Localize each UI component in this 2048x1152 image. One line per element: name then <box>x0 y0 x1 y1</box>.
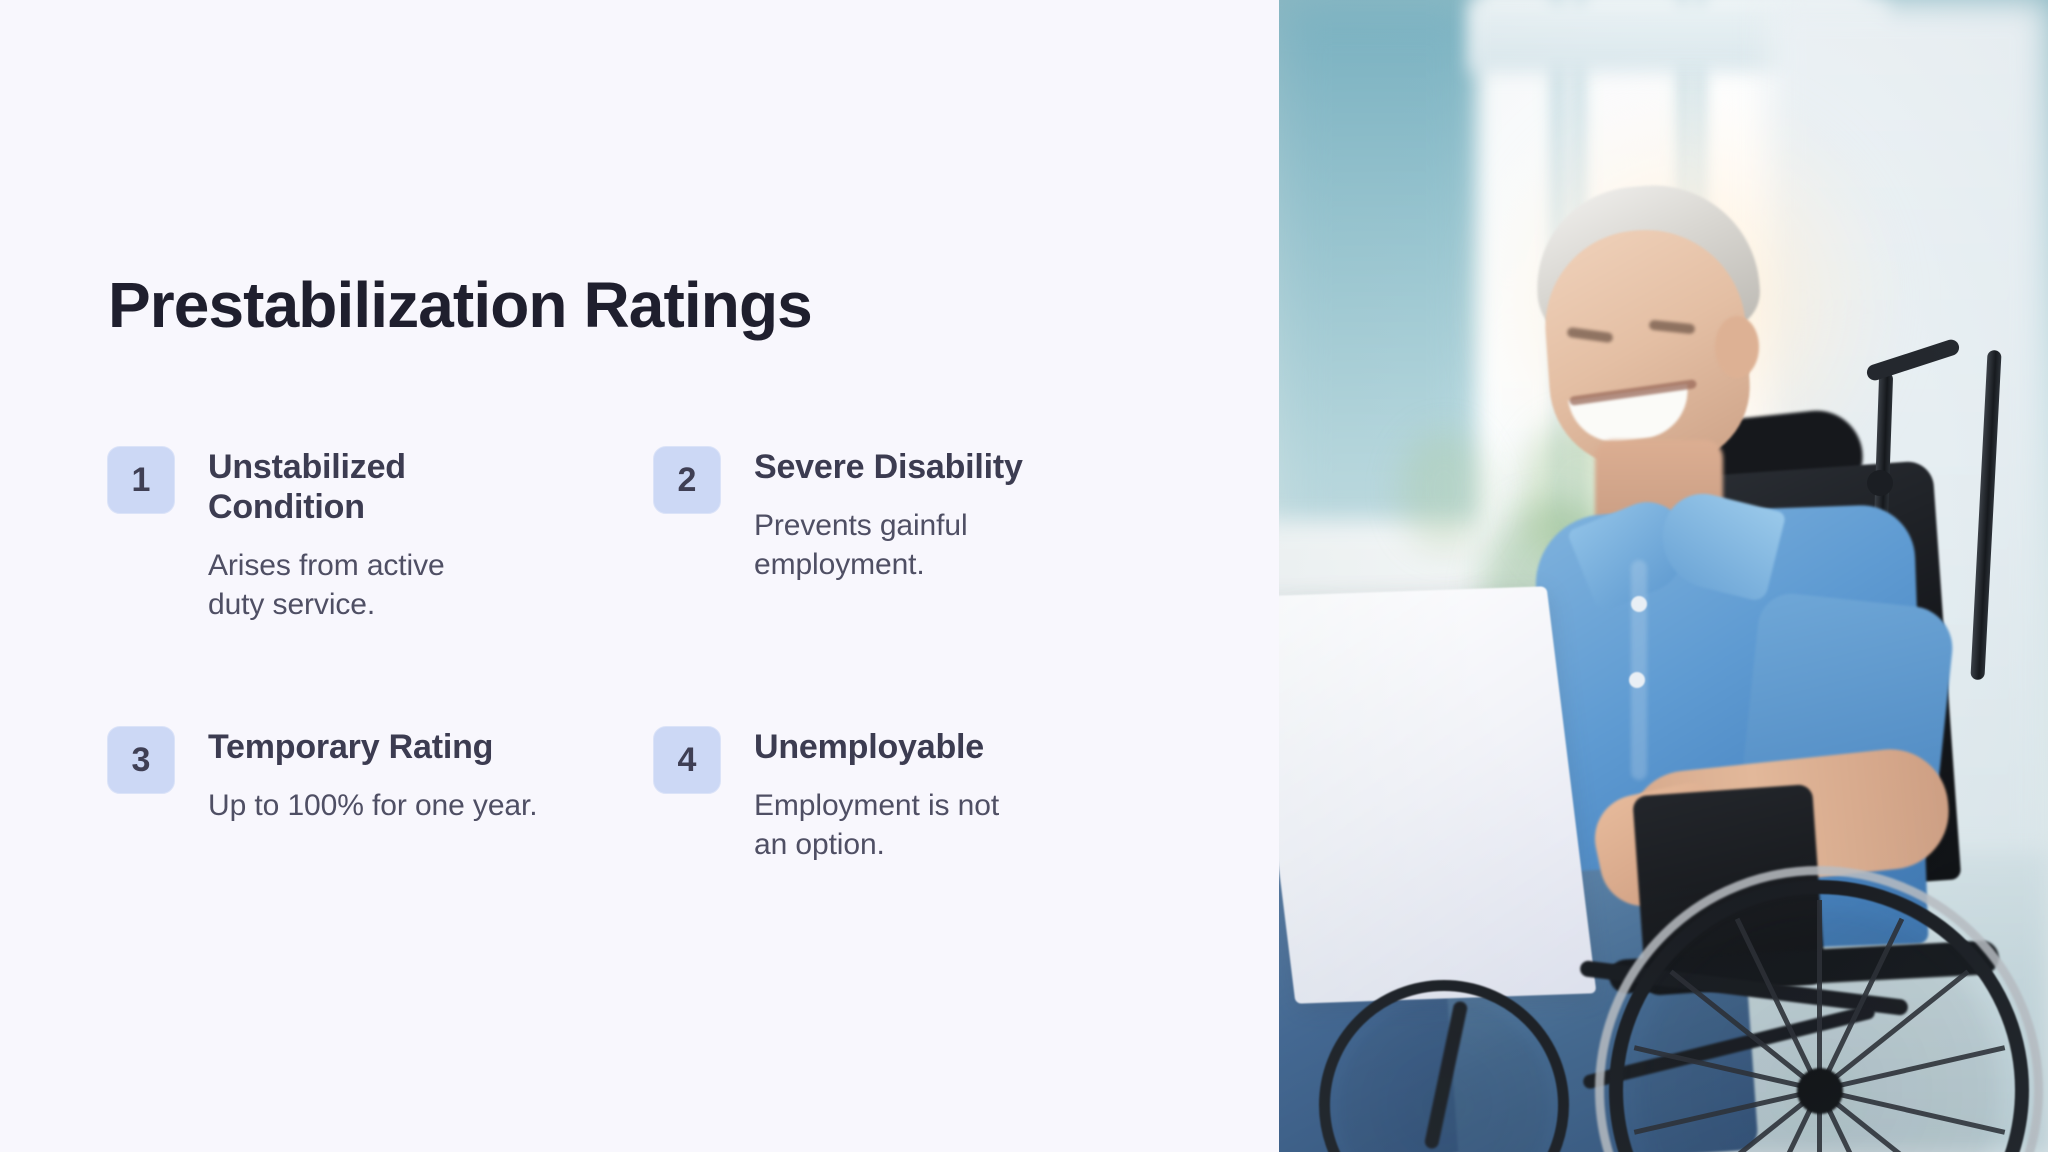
item-number-badge-1: 1 <box>107 446 175 514</box>
list-item-2: 2 Severe Disability Prevents gainful emp… <box>653 444 1167 724</box>
wheelchair-photo <box>1279 0 2048 1152</box>
wheelchair-spoke <box>1817 900 1822 1090</box>
shirt-button-2 <box>1629 672 1645 688</box>
wheelchair-wheel-hub <box>1797 1068 1843 1114</box>
shirt-placket <box>1631 560 1647 780</box>
page-title: Prestabilization Ratings <box>108 272 812 340</box>
item-description-3: Up to 100% for one year. <box>208 787 575 826</box>
item-text-2: Severe Disability Prevents gainful emplo… <box>721 444 1031 584</box>
shirt-button-1 <box>1631 596 1647 612</box>
slide-root: Prestabilization Ratings 1 Unstabilized … <box>0 0 2048 1152</box>
item-description-2: Prevents gainful employment. <box>754 507 1031 584</box>
item-heading-1: Unstabilized Condition <box>208 447 475 527</box>
person-ear <box>1715 316 1759 378</box>
item-description-1: Arises from active duty service. <box>208 547 475 624</box>
list-item-1: 1 Unstabilized Condition Arises from act… <box>107 444 653 724</box>
list-item-3: 3 Temporary Rating Up to 100% for one ye… <box>107 724 653 864</box>
ratings-list: 1 Unstabilized Condition Arises from act… <box>107 444 1167 864</box>
item-text-1: Unstabilized Condition Arises from activ… <box>175 444 475 625</box>
item-heading-2: Severe Disability <box>754 447 1031 487</box>
paper-document <box>1279 586 1596 1003</box>
item-number-badge-3: 3 <box>107 726 175 794</box>
item-description-4: Employment is not an option. <box>754 787 1021 864</box>
item-heading-3: Temporary Rating <box>208 727 575 767</box>
item-text-4: Unemployable Employment is not an option… <box>721 724 1021 864</box>
list-item-4: 4 Unemployable Employment is not an opti… <box>653 724 1167 864</box>
content-pane: Prestabilization Ratings 1 Unstabilized … <box>0 0 1279 1152</box>
item-text-3: Temporary Rating Up to 100% for one year… <box>175 724 575 826</box>
item-number-badge-2: 2 <box>653 446 721 514</box>
wheelchair-knob-1 <box>1867 470 1893 496</box>
item-number-badge-4: 4 <box>653 726 721 794</box>
photo-pane <box>1279 0 2048 1152</box>
plant-4 <box>1399 430 1489 550</box>
item-heading-4: Unemployable <box>754 727 1021 767</box>
